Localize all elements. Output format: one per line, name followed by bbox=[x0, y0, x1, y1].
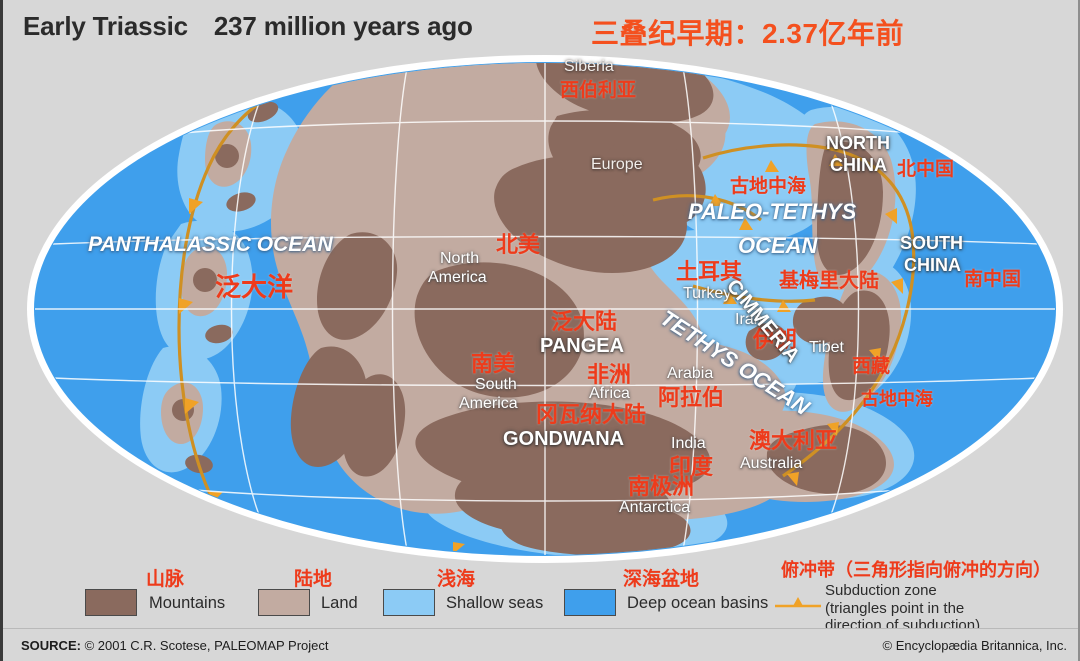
legend-mountains-en: Mountains bbox=[149, 594, 225, 613]
map-legend: 山脉 Mountains 陆地 Land 浅海 Shallow seas 深海盆… bbox=[3, 556, 1080, 628]
legend-shallow-seas-swatch bbox=[383, 589, 435, 616]
legend-deep-ocean-swatch bbox=[564, 589, 616, 616]
legend-land-swatch bbox=[258, 589, 310, 616]
legend-subduction-en-line2: (triangles point in the bbox=[825, 600, 980, 618]
legend-deep-ocean-en: Deep ocean basins bbox=[627, 594, 768, 613]
title-period: Early Triassic bbox=[23, 11, 188, 41]
legend-shallow-seas-zh: 浅海 bbox=[437, 564, 475, 591]
source-label: SOURCE: bbox=[21, 638, 81, 653]
paleogeographic-map-figure: Early Triassic237 million years ago 三叠纪早… bbox=[0, 0, 1080, 661]
title-chinese: 三叠纪早期：2.37亿年前 bbox=[591, 12, 904, 52]
map-canvas bbox=[3, 48, 1080, 568]
legend-subduction-zh: 俯冲带（三角形指向俯冲的方向） bbox=[781, 556, 1051, 582]
legend-mountains-swatch bbox=[85, 589, 137, 616]
credit-line: © Encyclopædia Britannica, Inc. bbox=[883, 638, 1067, 653]
legend-land-en: Land bbox=[321, 594, 358, 613]
legend-mountains-zh: 山脉 bbox=[146, 564, 184, 591]
world-map: PANTHALASSIC OCEAN 泛大洋 古地中海 PALEO-TETHYS… bbox=[3, 48, 1080, 568]
subduction-zone-symbol bbox=[775, 594, 821, 610]
legend-deep-ocean-zh: 深海盆地 bbox=[623, 564, 699, 591]
legend-land-zh: 陆地 bbox=[294, 564, 332, 591]
figure-footer: SOURCE: © 2001 C.R. Scotese, PALEOMAP Pr… bbox=[3, 628, 1080, 661]
title-english: Early Triassic237 million years ago bbox=[23, 11, 473, 42]
title-age: 237 million years ago bbox=[214, 11, 473, 41]
legend-subduction-en-line1: Subduction zone bbox=[825, 582, 980, 600]
source-line: SOURCE: © 2001 C.R. Scotese, PALEOMAP Pr… bbox=[21, 638, 329, 653]
source-text: © 2001 C.R. Scotese, PALEOMAP Project bbox=[85, 638, 329, 653]
legend-shallow-seas-en: Shallow seas bbox=[446, 594, 543, 613]
